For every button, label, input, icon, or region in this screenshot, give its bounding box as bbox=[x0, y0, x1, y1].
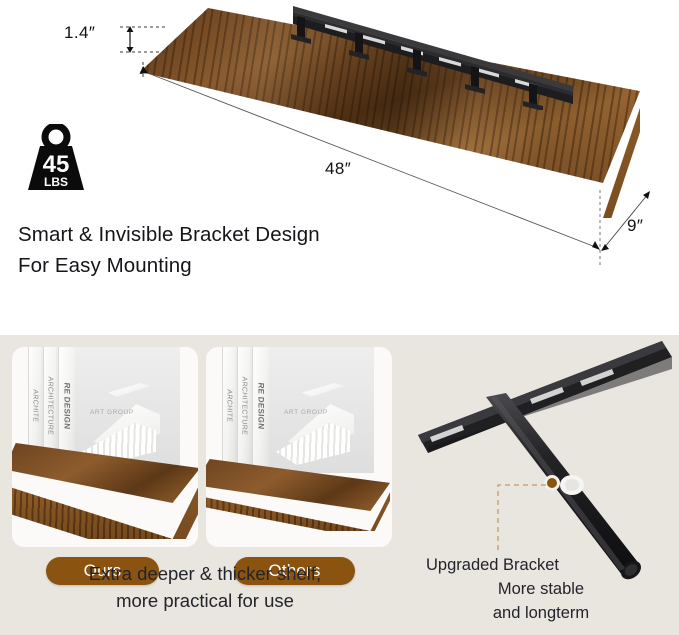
shelf-product-illustration bbox=[0, 0, 679, 250]
comparison-card-others: ARCHITE ARCHITECTURE RE DESIGN ART GROUP bbox=[206, 347, 392, 547]
model-brand-label: ART GROUP bbox=[284, 409, 328, 416]
comparison-caption-line-1: Extra deeper & thicker shelf, bbox=[89, 563, 321, 584]
book-spine: RE DESIGN bbox=[252, 347, 269, 473]
bracket-caption-line-1: Upgraded Bracket bbox=[412, 553, 670, 577]
headline-line-2: For Easy Mounting bbox=[18, 250, 320, 281]
headline-line-1: Smart & Invisible Bracket Design bbox=[18, 223, 320, 246]
others-book-stack: ARCHITE ARCHITECTURE RE DESIGN bbox=[220, 347, 282, 479]
weight-value-text: 45 bbox=[43, 151, 70, 178]
bracket-caption: Upgraded Bracket More stable and longter… bbox=[412, 553, 670, 625]
weight-capacity-badge: 45 LBS bbox=[24, 124, 88, 194]
depth-dimension-label: 9″ bbox=[627, 216, 643, 236]
mounting-rail-illustration bbox=[285, 0, 585, 110]
callout-dashed-line bbox=[498, 485, 546, 553]
others-shelf-scene: ARCHITE ARCHITECTURE RE DESIGN ART GROUP bbox=[206, 347, 392, 547]
comparison-card-ours: ARCHITE ARCHITECTURE RE DESIGN ART GROUP bbox=[12, 347, 198, 547]
hero-section: 1.4″ 48″ 9″ 45 LBS Smart & Invisible Bra… bbox=[0, 0, 679, 335]
book-spine: ARCHITECTURE bbox=[237, 347, 250, 472]
length-dimension-label: 48″ bbox=[325, 159, 351, 179]
model-brand-label: ART GROUP bbox=[90, 409, 134, 416]
weight-unit-text: LBS bbox=[44, 175, 68, 189]
bracket-caption-line-2: More stable bbox=[412, 577, 670, 601]
comparison-caption-line-2: more practical for use bbox=[116, 590, 294, 611]
comparison-caption: Extra deeper & thicker shelf, more pract… bbox=[0, 560, 410, 614]
bracket-caption-line-3: and longterm bbox=[412, 601, 670, 625]
book-spine: ARCHITE bbox=[222, 347, 235, 472]
product-infographic: 1.4″ 48″ 9″ 45 LBS Smart & Invisible Bra… bbox=[0, 0, 679, 635]
ours-shelf-scene: ARCHITE ARCHITECTURE RE DESIGN ART GROUP bbox=[12, 347, 198, 547]
comparison-section: ARCHITE ARCHITECTURE RE DESIGN ART GROUP bbox=[0, 335, 679, 635]
hero-headline: Smart & Invisible Bracket Design For Eas… bbox=[18, 219, 320, 281]
comparison-panels: ARCHITE ARCHITECTURE RE DESIGN ART GROUP bbox=[0, 335, 410, 635]
thickness-dimension-label: 1.4″ bbox=[64, 23, 95, 43]
